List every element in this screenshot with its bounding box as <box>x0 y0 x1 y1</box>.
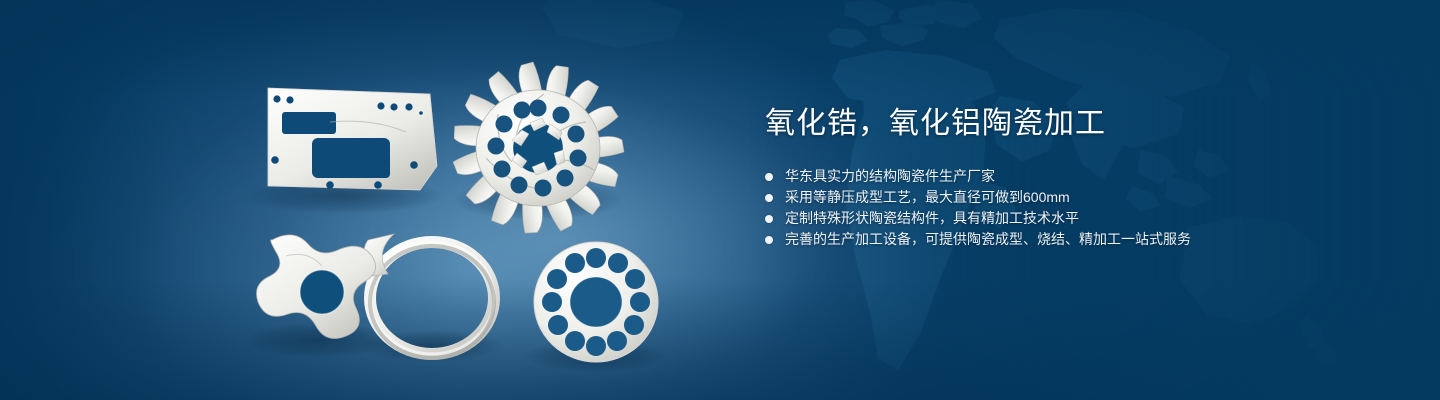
bullet-dot-icon <box>765 173 773 181</box>
product-photo-cluster <box>0 0 740 400</box>
bullet-dot-icon <box>765 236 773 244</box>
copy-block: 氧化锆，氧化铝陶瓷加工 华东具实力的结构陶瓷件生产厂家 采用等静压成型工艺，最大… <box>765 104 1405 250</box>
feature-text: 华东具实力的结构陶瓷件生产厂家 <box>785 166 995 187</box>
list-item: 华东具实力的结构陶瓷件生产厂家 <box>765 166 1405 187</box>
list-item: 采用等静压成型工艺，最大直径可做到600mm <box>765 187 1405 208</box>
feature-text: 完善的生产加工设备，可提供陶瓷成型、烧结、精加工一站式服务 <box>785 229 1191 250</box>
product-ceramic-perforated-disc <box>534 242 658 362</box>
list-item: 完善的生产加工设备，可提供陶瓷成型、烧结、精加工一站式服务 <box>765 229 1405 250</box>
product-ceramic-plate <box>268 88 437 190</box>
bullet-dot-icon <box>765 215 773 223</box>
bullet-dot-icon <box>765 194 773 202</box>
page-title: 氧化锆，氧化铝陶瓷加工 <box>765 104 1405 144</box>
feature-text: 采用等静压成型工艺，最大直径可做到600mm <box>785 187 1070 208</box>
product-ceramic-cross-rotor <box>257 235 376 339</box>
promo-banner: 氧化锆，氧化铝陶瓷加工 华东具实力的结构陶瓷件生产厂家 采用等静压成型工艺，最大… <box>0 0 1440 400</box>
feature-text: 定制特殊形状陶瓷结构件，具有精加工技术水平 <box>785 208 1079 229</box>
list-item: 定制特殊形状陶瓷结构件，具有精加工技术水平 <box>765 208 1405 229</box>
feature-list: 华东具实力的结构陶瓷件生产厂家 采用等静压成型工艺，最大直径可做到600mm 定… <box>765 166 1405 250</box>
